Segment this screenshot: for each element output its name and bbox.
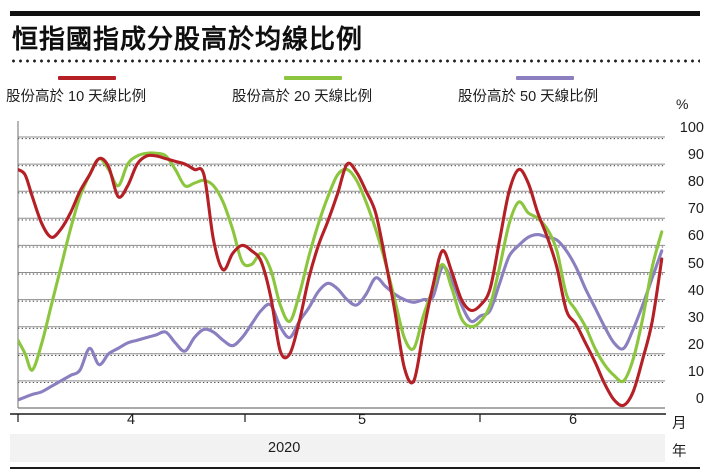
year-label: 2020 [268, 440, 300, 456]
y-axis-tick-label: 50 [668, 256, 704, 272]
bottom-divider [10, 467, 700, 469]
y-axis-tick-label: 60 [668, 228, 704, 244]
y-axis-tick-label: 90 [668, 147, 704, 163]
y-axis-tick-label: 20 [668, 337, 704, 353]
y-axis-tick-label: 100 [668, 120, 704, 136]
x-axis-unit-month: 月 [672, 412, 687, 433]
x-axis-unit-year: 年 [672, 440, 687, 461]
plot-area [0, 0, 710, 476]
y-axis-tick-label: 0 [668, 391, 704, 407]
series-line-ma50 [18, 235, 662, 400]
year-band [10, 434, 665, 462]
y-axis-tick-label: 10 [668, 364, 704, 380]
chart-page: 恒指國指成分股高於均線比例 股份高於 10 天線比例 股份高於 20 天線比例 … [0, 0, 710, 476]
y-axis-tick-label: 30 [668, 310, 704, 326]
x-axis-tick-label: 4 [111, 412, 151, 428]
x-axis-tick-label: 5 [342, 412, 382, 428]
chart-svg [0, 0, 710, 476]
x-axis-tick-label: 6 [553, 412, 593, 428]
y-axis-tick-label: 80 [668, 174, 704, 190]
y-axis-tick-label: 70 [668, 201, 704, 217]
y-axis-tick-label: 40 [668, 283, 704, 299]
